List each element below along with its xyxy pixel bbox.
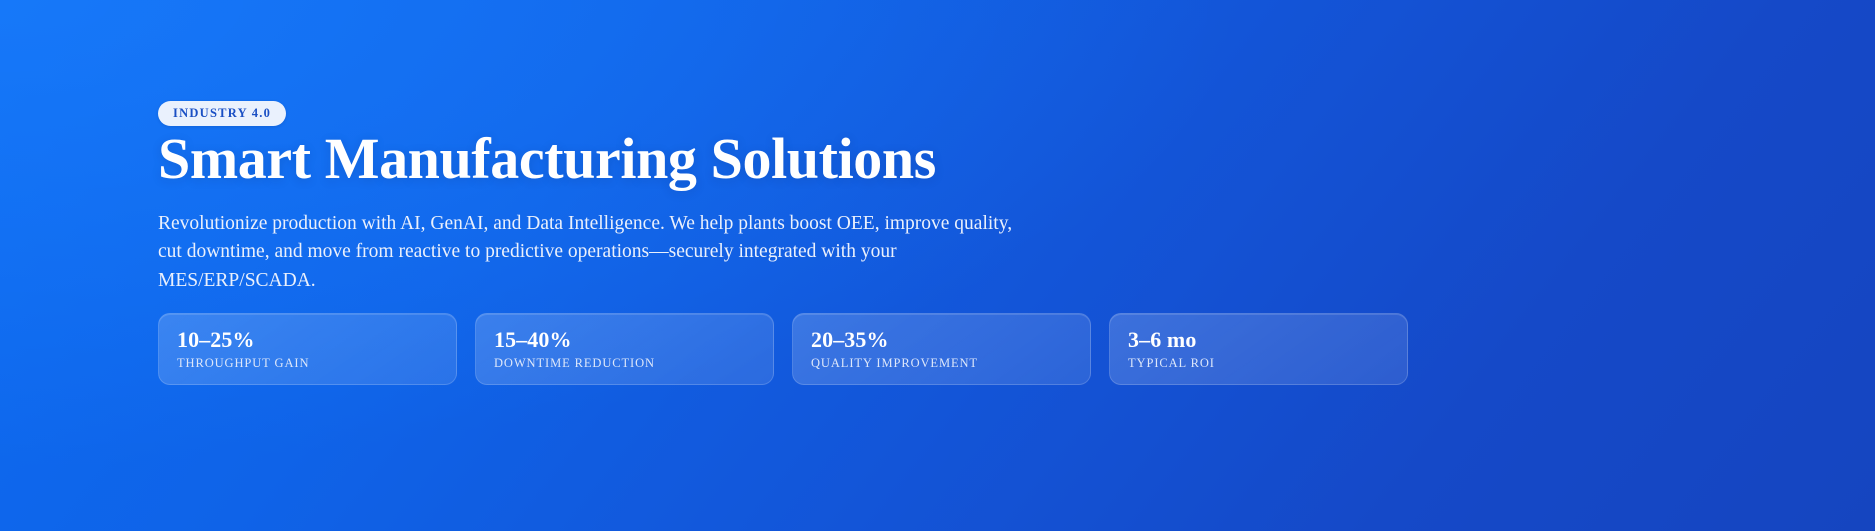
stat-card-quality-improvement: 20–35% QUALITY IMPROVEMENT	[792, 313, 1091, 385]
stat-card-typical-roi: 3–6 mo TYPICAL ROI	[1109, 313, 1408, 385]
stat-value: 15–40%	[494, 328, 755, 351]
hero-section: INDUSTRY 4.0 Smart Manufacturing Solutio…	[0, 0, 1875, 531]
hero-content: INDUSTRY 4.0 Smart Manufacturing Solutio…	[158, 0, 1758, 531]
stat-label: THROUGHPUT GAIN	[177, 356, 438, 371]
page-title: Smart Manufacturing Solutions	[158, 127, 936, 192]
stats-row: 10–25% THROUGHPUT GAIN 15–40% DOWNTIME R…	[158, 313, 1408, 385]
stat-value: 20–35%	[811, 328, 1072, 351]
stat-card-throughput-gain: 10–25% THROUGHPUT GAIN	[158, 313, 457, 385]
stat-card-downtime-reduction: 15–40% DOWNTIME REDUCTION	[475, 313, 774, 385]
stat-label: TYPICAL ROI	[1128, 356, 1389, 371]
stat-value: 3–6 mo	[1128, 328, 1389, 351]
stat-value: 10–25%	[177, 328, 438, 351]
industry-badge: INDUSTRY 4.0	[158, 101, 286, 126]
hero-description: Revolutionize production with AI, GenAI,…	[158, 210, 1038, 295]
stat-label: DOWNTIME REDUCTION	[494, 356, 755, 371]
stat-label: QUALITY IMPROVEMENT	[811, 356, 1072, 371]
